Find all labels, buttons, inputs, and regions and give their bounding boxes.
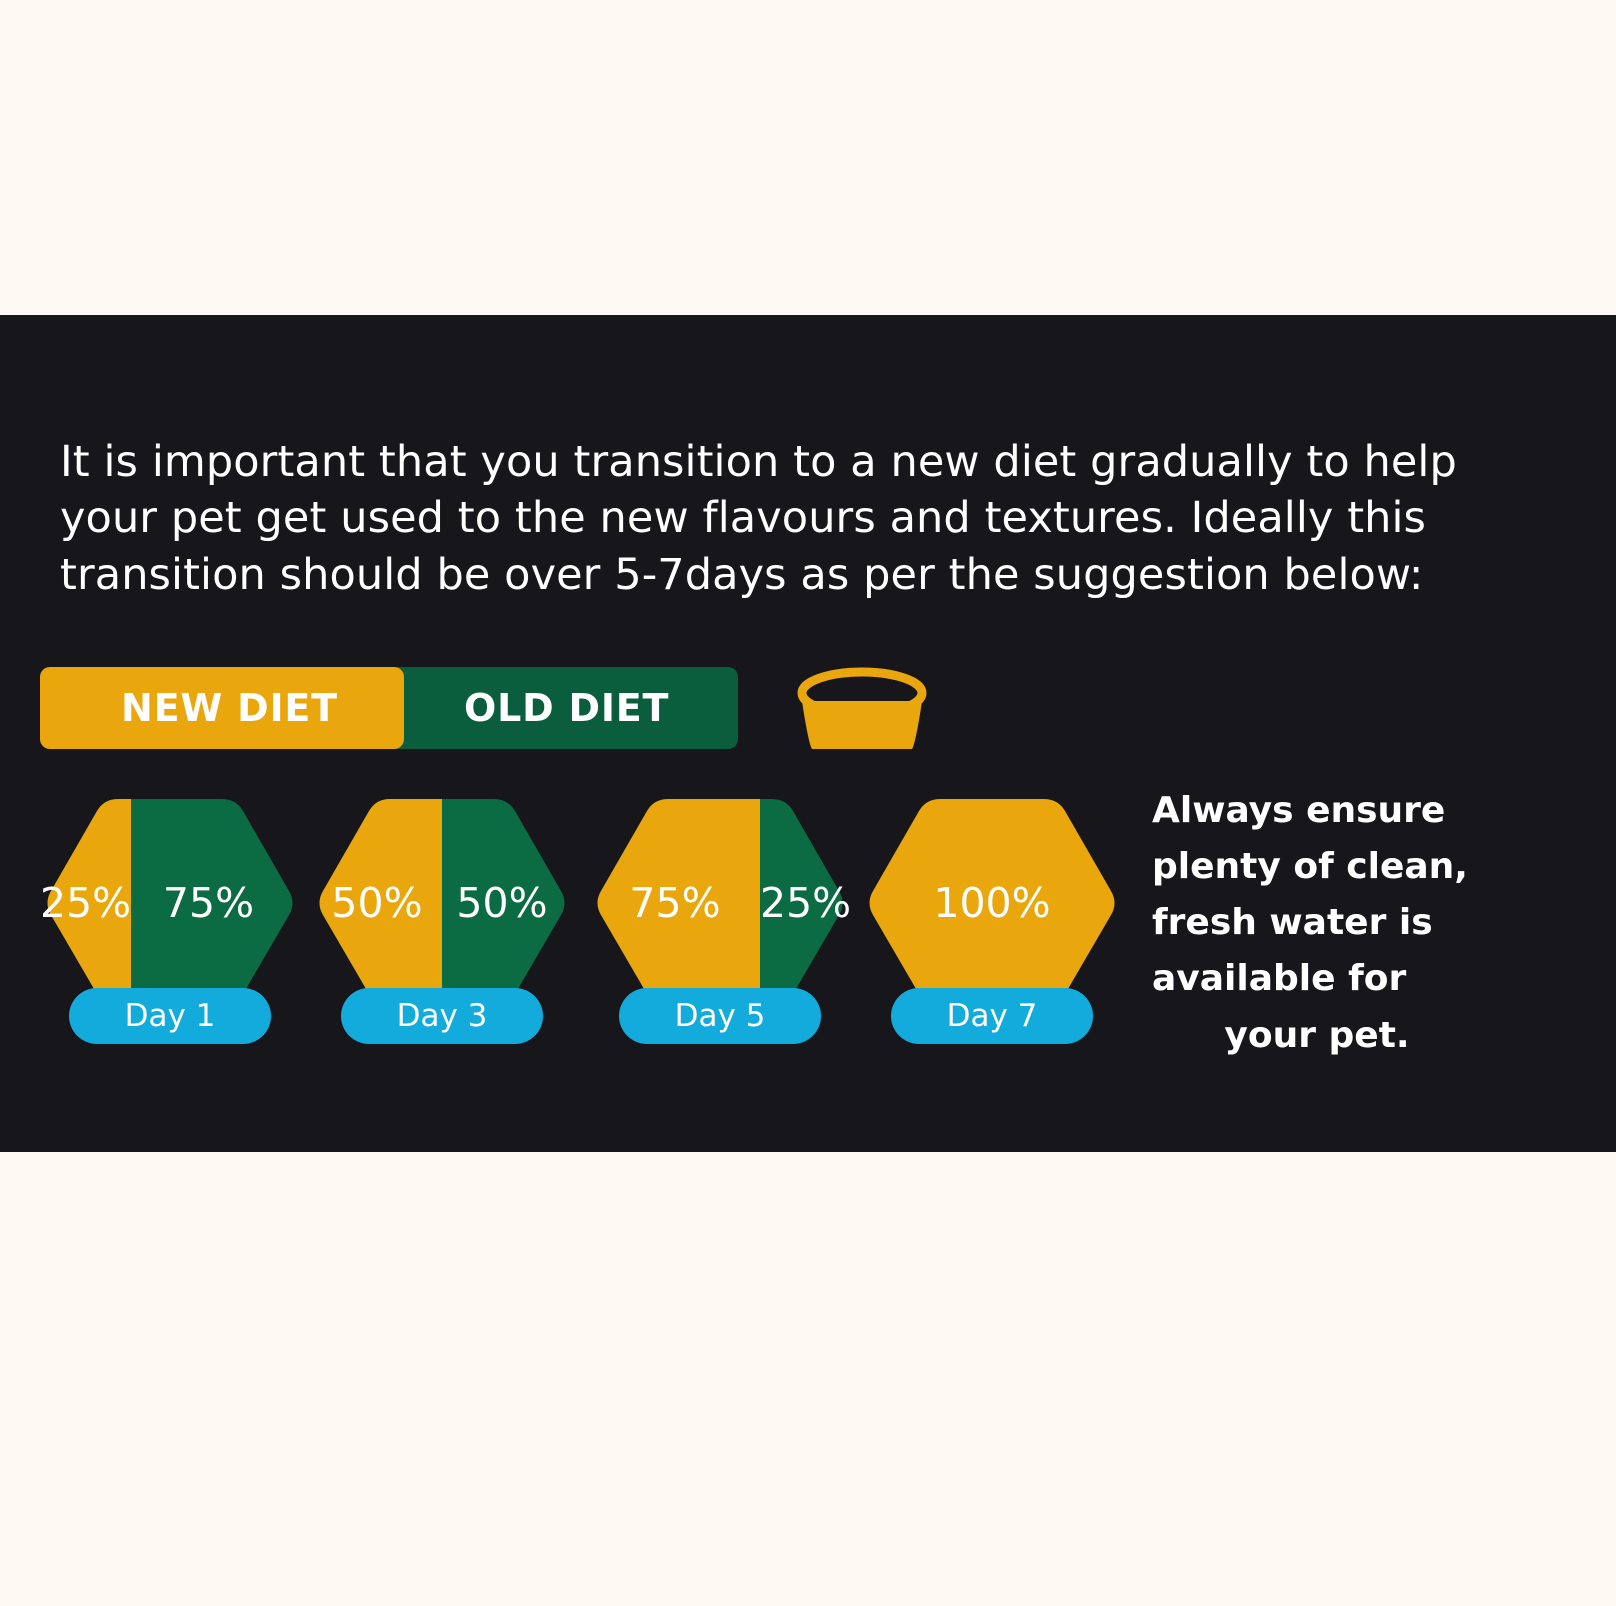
transition-step-day5: 75% 25% Day 5 [590, 795, 850, 1055]
note-line-2: plenty of clean, [1152, 839, 1482, 895]
diet-legend: OLD DIET NEW DIET [40, 667, 738, 749]
legend-new-diet: NEW DIET [40, 667, 404, 749]
day-pill-day7: Day 7 [891, 988, 1093, 1044]
hexagon-day3 [312, 795, 572, 1010]
day1-label: Day 1 [125, 998, 216, 1034]
page-root: It is important that you transition to a… [0, 0, 1616, 1606]
day-pill-day5: Day 5 [619, 988, 821, 1044]
day3-label: Day 3 [397, 998, 488, 1034]
pet-food-bowl-icon [786, 665, 938, 753]
note-line-5: your pet. [1152, 1008, 1482, 1064]
diet-transition-panel: It is important that you transition to a… [0, 315, 1616, 1152]
hexagon-day7 [862, 795, 1122, 1010]
day7-label: Day 7 [947, 998, 1038, 1034]
day-pill-day1: Day 1 [69, 988, 271, 1044]
transition-step-day3: 50% 50% Day 3 [312, 795, 572, 1055]
day5-label: Day 5 [675, 998, 766, 1034]
transition-step-day1: 25% 75% Day 1 [40, 795, 300, 1055]
note-line-3: fresh water is [1152, 895, 1482, 951]
legend-old-diet-label: OLD DIET [464, 686, 669, 730]
transition-step-day7: 100% Day 7 [862, 795, 1122, 1055]
water-reminder-note: Always ensure plenty of clean, fresh wat… [1152, 783, 1482, 1064]
note-line-1: Always ensure [1152, 783, 1482, 839]
hexagon-day5 [590, 795, 850, 1010]
hexagon-day1 [40, 795, 300, 1010]
note-line-4: available for [1152, 951, 1482, 1007]
intro-paragraph: It is important that you transition to a… [60, 434, 1510, 603]
legend-new-diet-label: NEW DIET [121, 686, 338, 730]
day-pill-day3: Day 3 [341, 988, 543, 1044]
